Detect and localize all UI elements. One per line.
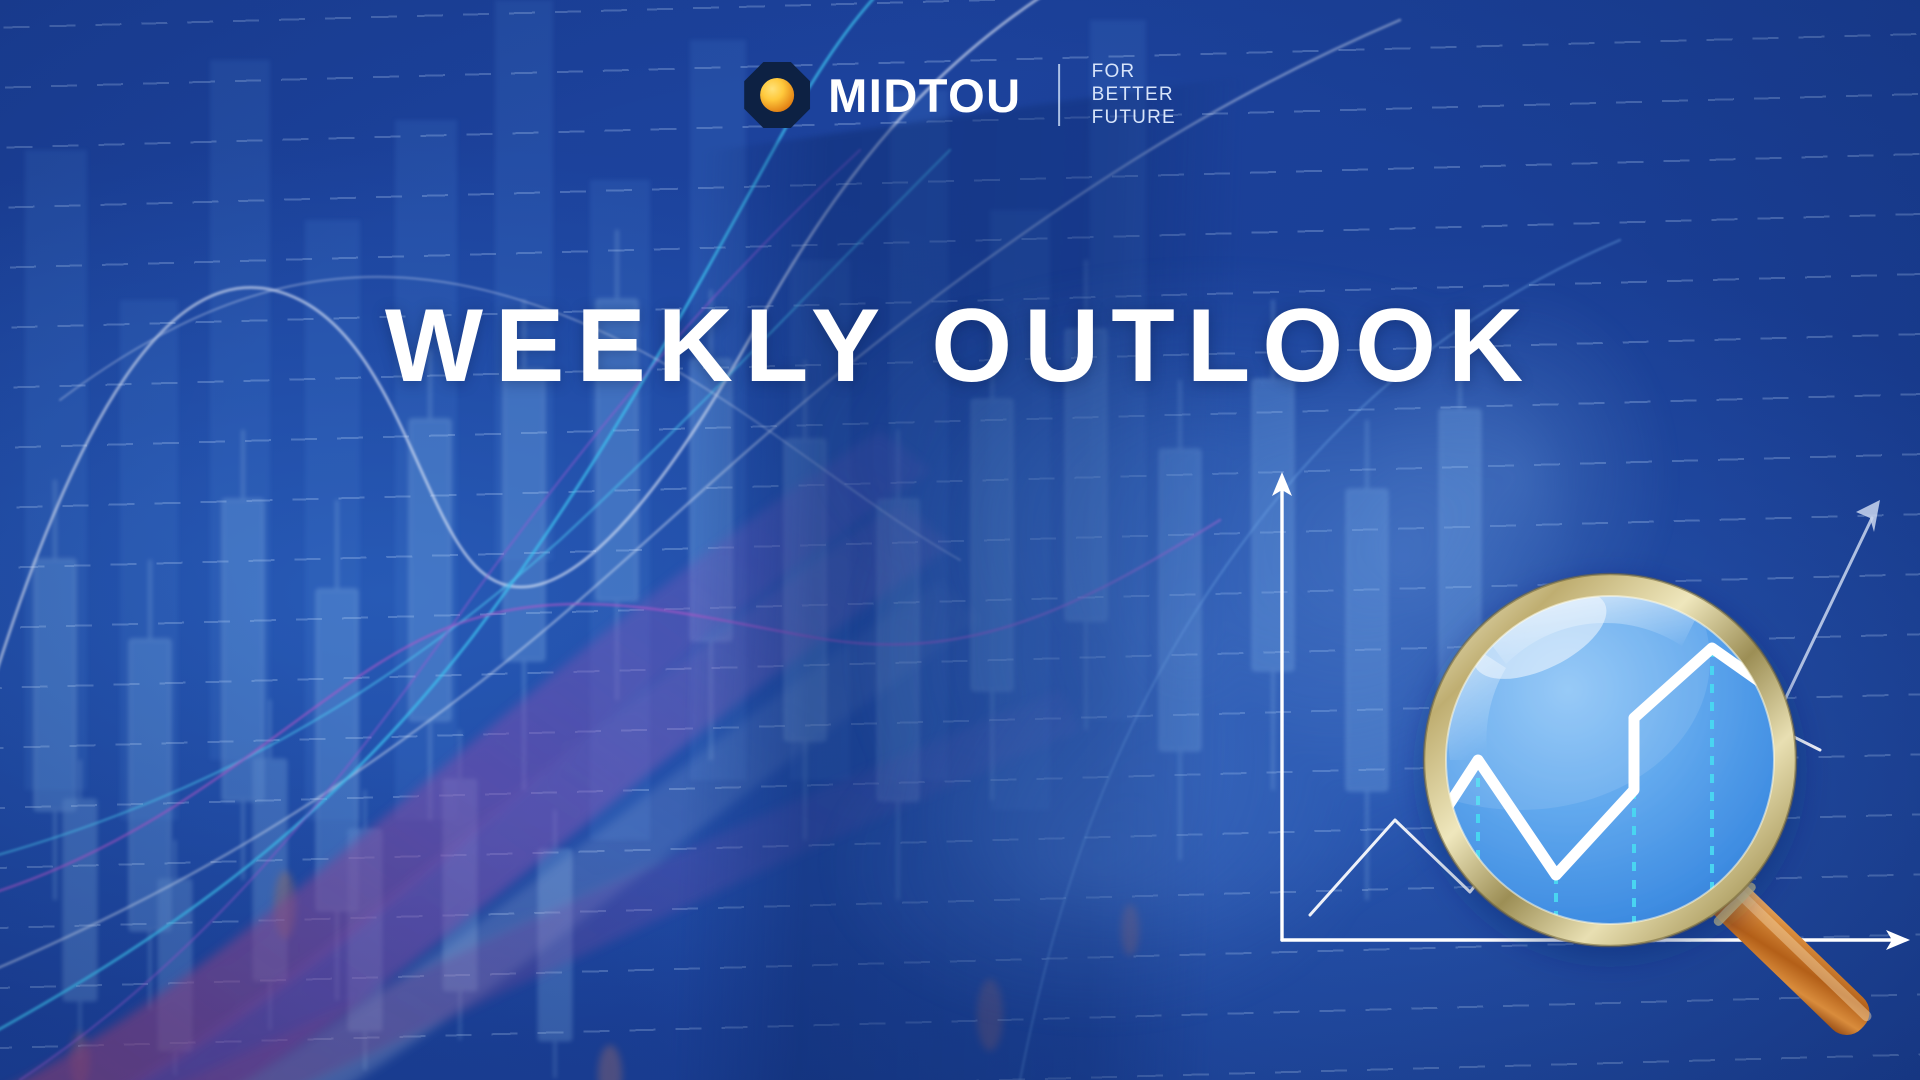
octagon-dot-logo-icon [744,62,810,128]
magnifying-glass-illustration [1220,460,1920,1080]
magnifier-lens [1330,510,1850,960]
tagline-line-1: FOR [1092,62,1176,82]
logo-divider [1058,64,1060,126]
brand-logo[interactable]: MIDTOU FOR BETTER FUTURE [744,62,1176,128]
brand-wordmark: MIDTOU [828,72,1022,119]
banner-canvas: MIDTOU FOR BETTER FUTURE WEEKLY OUTLOOK [0,0,1920,1080]
page-title: WEEKLY OUTLOOK [0,294,1920,398]
tagline-line-2: BETTER [1092,85,1176,105]
growth-trend-arrow [1780,518,1872,710]
tagline-line-3: FUTURE [1092,108,1176,128]
brand-tagline: FOR BETTER FUTURE [1092,62,1176,128]
